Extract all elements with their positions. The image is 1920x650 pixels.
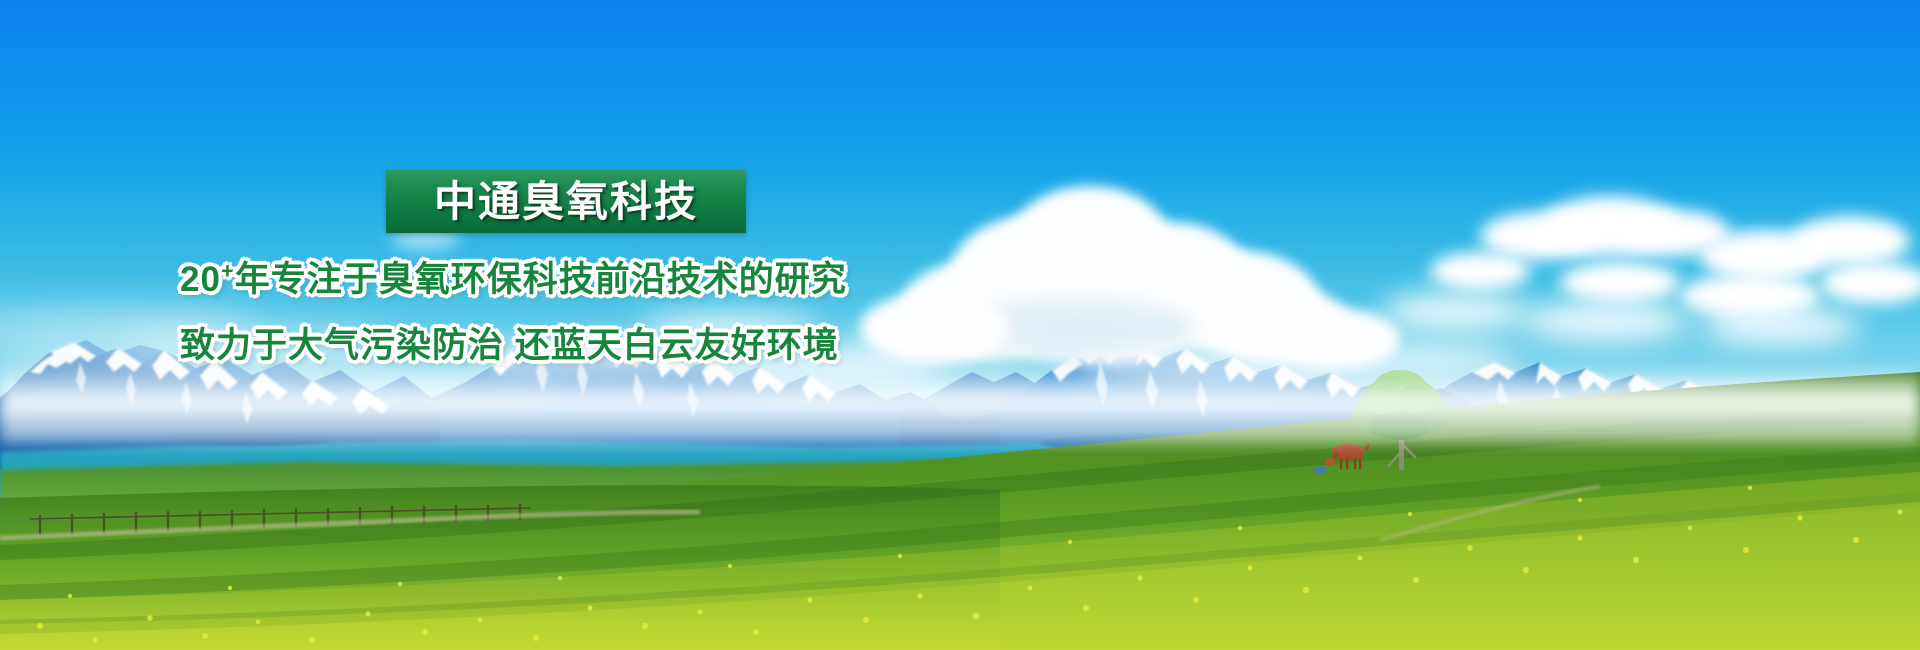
- hero-text-block: 中通臭氧科技 20+年专注于臭氧环保科技前沿技术的研究 致力于大气污染防治 还蓝…: [0, 0, 1920, 650]
- tagline-line-1-rest: 年专注于臭氧环保科技前沿技术的研究: [235, 260, 847, 299]
- tagline-years-number: 20: [180, 260, 221, 299]
- tagline-line-2: 致力于大气污染防治 还蓝天白云友好环境: [180, 328, 839, 363]
- hero-banner: 中通臭氧科技 20+年专注于臭氧环保科技前沿技术的研究 致力于大气污染防治 还蓝…: [0, 0, 1920, 650]
- tagline-plus-superscript: +: [221, 258, 235, 283]
- brand-title: 中通臭氧科技: [386, 170, 746, 233]
- tagline-line-1: 20+年专注于臭氧环保科技前沿技术的研究: [180, 262, 847, 297]
